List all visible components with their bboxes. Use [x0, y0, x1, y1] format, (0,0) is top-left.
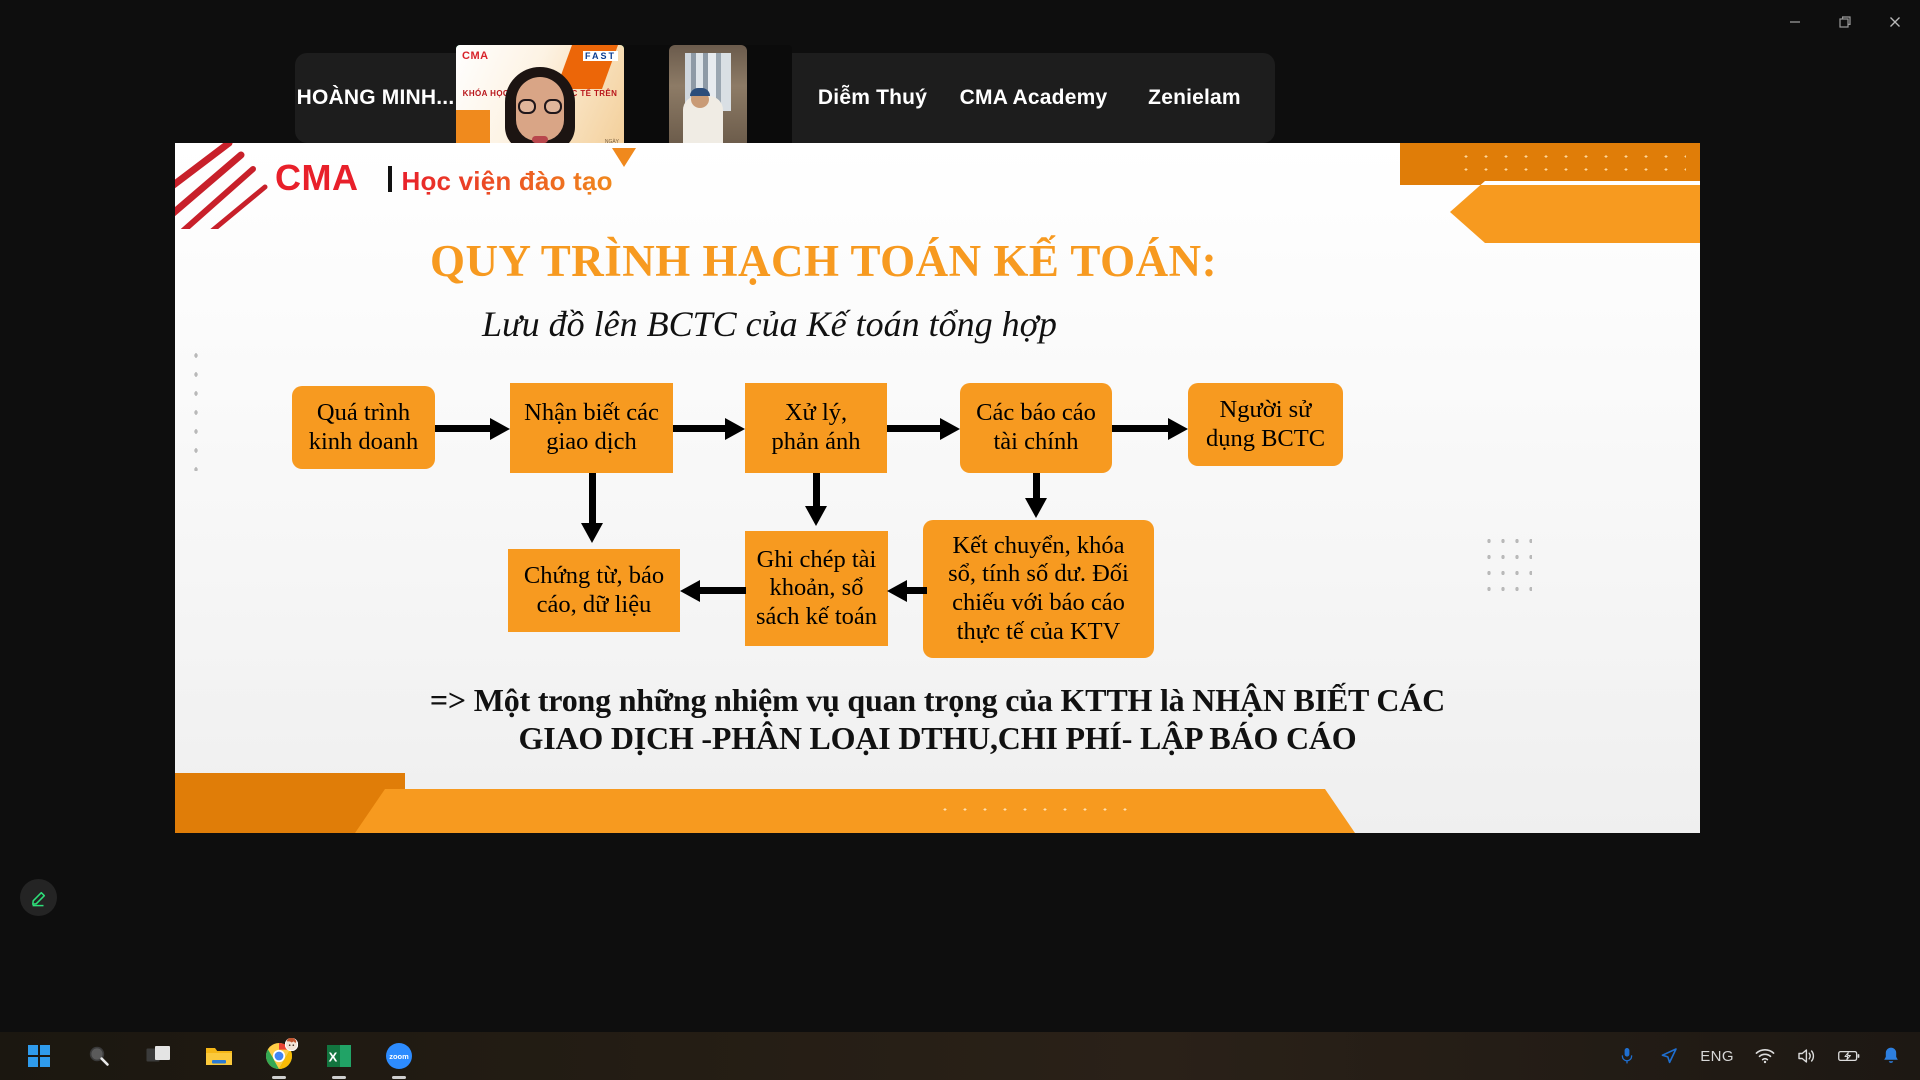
google-chrome-button[interactable] [262, 1039, 296, 1073]
pencil-icon [29, 888, 49, 908]
folder-icon [205, 1044, 233, 1068]
shared-screen-slide[interactable]: CMA Học viện đào tạo QUY TRÌNH HẠCH TOÁN… [175, 143, 1700, 833]
search-button[interactable] [82, 1039, 116, 1073]
flow-box-text: Xử lý,phản ánh [771, 399, 860, 456]
flow-box-text: Ghi chép tàikhoản, sổsách kế toán [756, 546, 877, 632]
flow-box-cac-bao-cao-tai-chinh: Các báo cáotài chính [960, 383, 1112, 473]
excel-icon: X [326, 1043, 352, 1069]
participant-display-name: Diễm Thuý [818, 86, 927, 110]
bottom-dot-pattern [935, 803, 1135, 817]
location-arrow-icon[interactable] [1658, 1045, 1680, 1067]
annotate-button[interactable] [20, 879, 57, 916]
arrow-head [940, 418, 960, 440]
top-right-dot-pattern [1456, 150, 1686, 176]
microsoft-excel-button[interactable]: X [322, 1039, 356, 1073]
slide-title: QUY TRÌNH HẠCH TOÁN KẾ TOÁN: [430, 235, 1217, 287]
cma-logo: CMA Học viện đào tạo [275, 157, 613, 199]
conclusion-line-2: GIAO DỊCH -PHÂN LOẠI DTHU,CHI PHÍ- LẬP B… [175, 720, 1700, 757]
participant-filmstrip: HOÀNG MINH... CMA FAST KHÓA HỌC KẾ TOÁN … [295, 53, 1275, 143]
speaker-icon[interactable] [1796, 1045, 1818, 1067]
participant-tile-cma-academy[interactable]: CMA Academy [953, 53, 1114, 143]
participant-tile-tran-thi-hoa[interactable]: CMA FAST KHÓA HỌC KẾ TOÁN THỰC TẾ TRÊN N… [456, 53, 624, 143]
participant-tile-hoang-minh-chau[interactable]: HOÀNG MINH... [295, 53, 456, 143]
participant-video: CMA FAST KHÓA HỌC KẾ TOÁN THỰC TẾ TRÊN N… [456, 45, 624, 148]
participant-webcam-feed [669, 45, 747, 148]
chrome-profile-avatar [285, 1038, 298, 1051]
windows-logo-icon [27, 1044, 51, 1068]
file-explorer-button[interactable] [202, 1039, 236, 1073]
zoom-icon: zoom [385, 1042, 413, 1070]
participant-display-name: HOÀNG MINH... [297, 86, 455, 110]
arrow-b3-b4 [887, 425, 942, 432]
arrow-head [581, 523, 603, 543]
task-view-icon [146, 1045, 172, 1067]
restore-button[interactable] [1820, 0, 1870, 44]
battery-charging-icon[interactable] [1838, 1045, 1860, 1067]
participant-face [505, 67, 575, 148]
flow-box-qua-trinh-kinh-doanh: Quá trìnhkinh doanh [292, 386, 435, 469]
conclusion-line-1: => Một trong những nhiệm vụ quan trọng c… [175, 682, 1700, 719]
language-indicator[interactable]: ENG [1700, 1048, 1734, 1065]
close-button[interactable] [1870, 0, 1920, 44]
participant-display-name: CMA Academy [960, 86, 1108, 110]
arrow-head [887, 580, 907, 602]
flow-box-text: Chứng từ, báocáo, dữ liệu [524, 562, 664, 619]
participant-tile-diem-thuy[interactable]: Diễm Thuý [792, 53, 953, 143]
arrow-b7-b6 [698, 587, 746, 594]
logo-tagline: Học viện đào tạo [401, 166, 612, 197]
flow-box-chung-tu-bao-cao-du-lieu: Chứng từ, báocáo, dữ liệu [508, 549, 680, 632]
arrow-head [725, 418, 745, 440]
slide-subtitle: Lưu đồ lên BCTC của Kế toán tổng hợp [482, 303, 1057, 345]
logo-brand-text: CMA [275, 157, 358, 199]
wifi-icon[interactable] [1754, 1045, 1776, 1067]
flow-box-ghi-chep-tai-khoan: Ghi chép tàikhoản, sổsách kế toán [745, 531, 888, 646]
arrow-b8-b7 [905, 587, 927, 594]
left-dot-grid [189, 346, 206, 471]
bell-icon[interactable] [1880, 1045, 1902, 1067]
arrow-head [805, 506, 827, 526]
flow-box-text: Quá trìnhkinh doanh [309, 399, 419, 456]
thumbnail-fast-logo: FAST [583, 51, 618, 61]
arrow-head [680, 580, 700, 602]
svg-text:X: X [329, 1050, 338, 1065]
participant-tile-kim-cuong-nguyen[interactable] [624, 53, 792, 143]
shared-slide-thumbnail: CMA FAST KHÓA HỌC KẾ TOÁN THỰC TẾ TRÊN N… [456, 45, 624, 148]
flow-box-text: Các báo cáotài chính [976, 399, 1096, 456]
flow-box-nguoi-su-dung-bctc: Người sửdụng BCTC [1188, 383, 1343, 466]
task-view-button[interactable] [142, 1039, 176, 1073]
flow-box-text: Kết chuyển, khóasổ, tính số dư. Đốichiếu… [948, 532, 1129, 647]
arrow-head [1168, 418, 1188, 440]
bottom-orange-banner [355, 789, 1355, 833]
logo-divider [388, 166, 392, 192]
right-dot-grid [1482, 533, 1532, 595]
flow-box-nhan-biet-cac-giao-dich: Nhận biết cácgiao dịch [510, 383, 673, 473]
flow-box-xu-ly-phan-anh: Xử lý,phản ánh [745, 383, 887, 473]
participant-display-name: Zenielam [1148, 86, 1241, 110]
arrow-b4-b5 [1112, 425, 1170, 432]
participant-tile-zenielam[interactable]: Zenielam [1114, 53, 1275, 143]
thumbnail-cma-logo: CMA [462, 50, 489, 62]
flow-box-text: Người sửdụng BCTC [1206, 396, 1325, 453]
minimize-button[interactable] [1770, 0, 1820, 44]
participant-video [624, 45, 792, 148]
zoom-app-button[interactable]: zoom [382, 1039, 416, 1073]
arrow-b2-b3 [673, 425, 728, 432]
arrow-head [490, 418, 510, 440]
arrow-head [1025, 498, 1047, 518]
arrow-b2-down [589, 473, 596, 528]
microphone-icon[interactable] [1616, 1045, 1638, 1067]
logo-triangle-icon [612, 148, 636, 167]
zoom-meeting-window: HOÀNG MINH... CMA FAST KHÓA HỌC KẾ TOÁN … [0, 0, 1920, 1080]
window-titlebar [0, 0, 1920, 44]
flow-box-ket-chuyen-khoa-so: Kết chuyển, khóasổ, tính số dư. Đốichiếu… [923, 520, 1154, 658]
start-button[interactable] [22, 1039, 56, 1073]
windows-taskbar: X zoom ENG [0, 1032, 1920, 1080]
search-icon [87, 1044, 111, 1068]
flow-box-text: Nhận biết cácgiao dịch [524, 399, 659, 456]
arrow-b1-b2 [435, 425, 493, 432]
top-right-hex-shape [1450, 181, 1700, 243]
svg-text:zoom: zoom [389, 1052, 409, 1061]
